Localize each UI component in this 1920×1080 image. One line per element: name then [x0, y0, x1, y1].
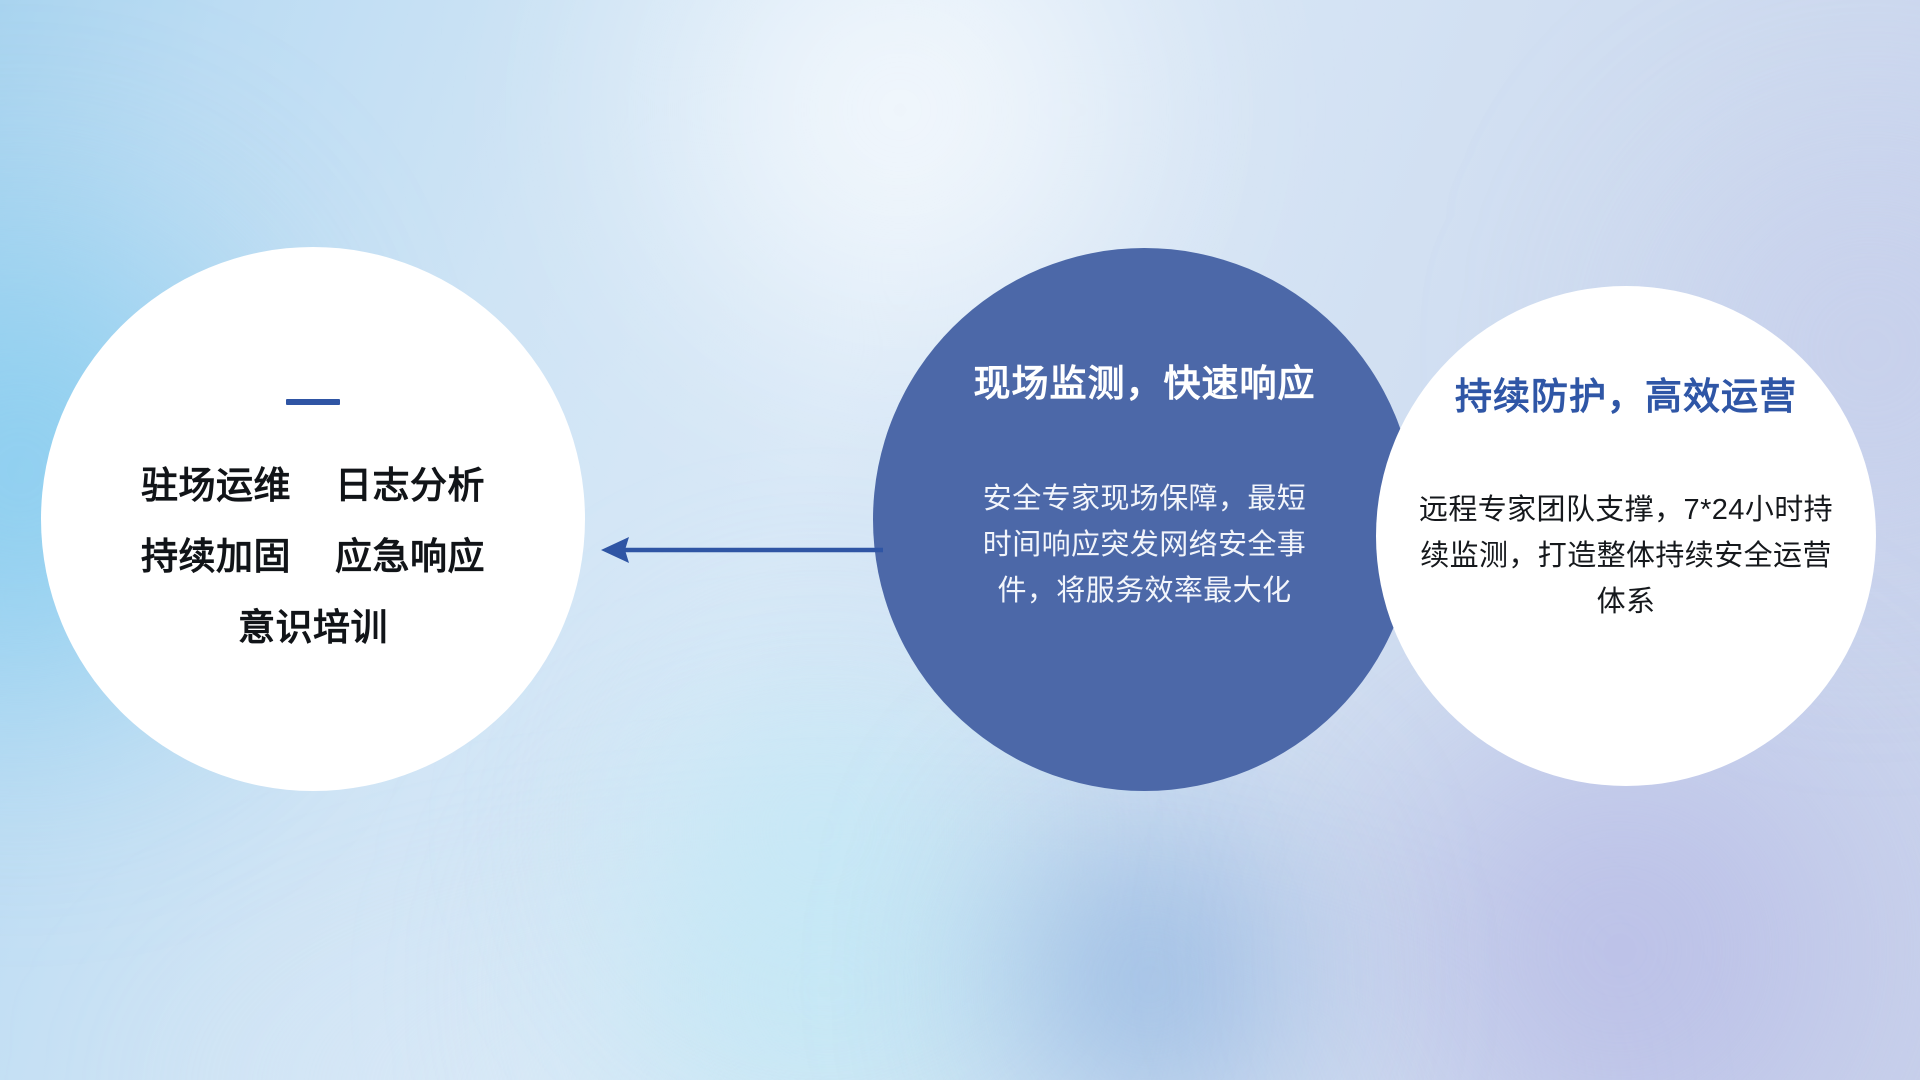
card-onsite-monitoring-body: 安全专家现场保障，最短时间响应突发网络安全事件，将服务效率最大化	[970, 477, 1320, 614]
card-onsite-monitoring-title: 现场监测，快速响应	[974, 353, 1316, 407]
card-onsite-monitoring[interactable]: 现场监测，快速响应 安全专家现场保障，最短时间响应突发网络安全事件，将服务效率最…	[873, 248, 1416, 791]
card-continuous-protection-title: 持续防护，高效运营	[1455, 366, 1797, 420]
card-onsite-monitoring-content: 现场监测，快速响应 安全专家现场保障，最短时间响应突发网络安全事件，将服务效率最…	[873, 248, 1416, 791]
keyword-chip: 驻场运维	[141, 463, 291, 508]
card-service-keywords[interactable]: 驻场运维 日志分析 持续加固 应急响应 意识培训	[41, 247, 585, 791]
keyword-row: 持续加固 应急响应	[141, 534, 485, 579]
keyword-row: 驻场运维 日志分析	[141, 463, 485, 508]
card-continuous-protection[interactable]: 持续防护，高效运营 远程专家团队支撑，7*24小时持续监测，打造整体持续安全运营…	[1376, 286, 1876, 786]
slide-canvas: 现场监测，快速响应 安全专家现场保障，最短时间响应突发网络安全事件，将服务效率最…	[0, 0, 1920, 1080]
keyword-chip: 持续加固	[141, 534, 291, 579]
divider-rule-icon	[286, 399, 340, 405]
arrow-left-icon	[595, 520, 885, 580]
card-service-keywords-content: 驻场运维 日志分析 持续加固 应急响应 意识培训	[41, 247, 585, 791]
keyword-chip: 意识培训	[238, 605, 388, 650]
card-continuous-protection-content: 持续防护，高效运营 远程专家团队支撑，7*24小时持续监测，打造整体持续安全运营…	[1376, 286, 1876, 786]
keyword-row: 意识培训	[238, 605, 388, 650]
keyword-chip: 日志分析	[335, 463, 485, 508]
card-continuous-protection-body: 远程专家团队支撑，7*24小时持续监测，打造整体持续安全运营体系	[1411, 488, 1841, 625]
keyword-chip: 应急响应	[335, 534, 485, 579]
